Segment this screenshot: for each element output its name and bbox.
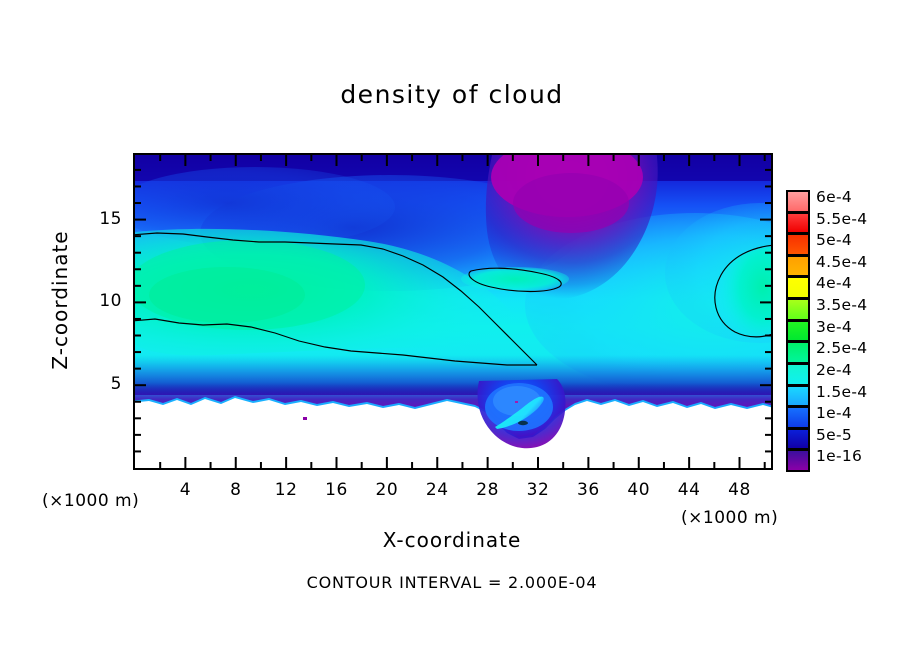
- y-tick-label: 10: [78, 291, 122, 311]
- colorbar-tick-label: 1e-4: [816, 404, 852, 422]
- x-tick-label: 44: [669, 480, 709, 500]
- y-axis-title: Z-coordinate: [48, 180, 72, 420]
- x-unit-label-right: (×1000 m): [681, 508, 778, 528]
- chart-title: density of cloud: [0, 80, 904, 109]
- x-tick-label: 8: [216, 480, 256, 500]
- x-tick-label: 40: [619, 480, 659, 500]
- colorbar-tick-label: 1.5e-4: [816, 383, 867, 401]
- colorbar-cell: [786, 190, 810, 213]
- x-tick-label: 32: [518, 480, 558, 500]
- x-unit-label-left: (×1000 m): [42, 491, 139, 511]
- y-tick-label: 15: [78, 209, 122, 229]
- x-axis-title: X-coordinate: [0, 528, 904, 552]
- colorbar-tick-label: 1e-16: [816, 447, 862, 465]
- colorbar-tick-label: 4e-4: [816, 274, 852, 292]
- colorbar-tick-label: 3.5e-4: [816, 296, 867, 314]
- colorbar-cell: [786, 255, 810, 278]
- y-tick-label: 5: [78, 374, 122, 394]
- colorbar-cell: [786, 233, 810, 256]
- colorbar-cell: [786, 320, 810, 343]
- colorbar-tick-label: 5e-5: [816, 426, 852, 444]
- colorbar-cell: [786, 449, 810, 472]
- x-tick-label: 36: [568, 480, 608, 500]
- colorbar-cell: [786, 363, 810, 386]
- colorbar-cell: [786, 428, 810, 451]
- contour-plot-area: [133, 153, 773, 470]
- colorbar-cell: [786, 341, 810, 364]
- x-tick-label: 4: [165, 480, 205, 500]
- figure-canvas: density of cloud: [0, 0, 904, 654]
- colorbar-tick-label: 5.5e-4: [816, 210, 867, 228]
- contour-field: [135, 155, 771, 468]
- colorbar-tick-label: 4.5e-4: [816, 253, 867, 271]
- colorbar: 6e-45.5e-45e-44.5e-44e-43.5e-43e-42.5e-4…: [786, 190, 810, 471]
- colorbar-tick-label: 2.5e-4: [816, 339, 867, 357]
- colorbar-cell: [786, 298, 810, 321]
- x-tick-label: 48: [720, 480, 760, 500]
- colorbar-tick-label: 6e-4: [816, 188, 852, 206]
- x-tick-label: 24: [417, 480, 457, 500]
- colorbar-cell: [786, 406, 810, 429]
- colorbar-cell: [786, 385, 810, 408]
- x-tick-label: 20: [367, 480, 407, 500]
- contour-interval-note: CONTOUR INTERVAL = 2.000E-04: [0, 573, 904, 592]
- colorbar-cell: [786, 212, 810, 235]
- colorbar-tick-label: 3e-4: [816, 318, 852, 336]
- colorbar-tick-label: 2e-4: [816, 361, 852, 379]
- colorbar-tick-label: 5e-4: [816, 231, 852, 249]
- colorbar-cell: [786, 276, 810, 299]
- x-tick-label: 16: [317, 480, 357, 500]
- x-tick-label: 12: [266, 480, 306, 500]
- x-tick-label: 28: [468, 480, 508, 500]
